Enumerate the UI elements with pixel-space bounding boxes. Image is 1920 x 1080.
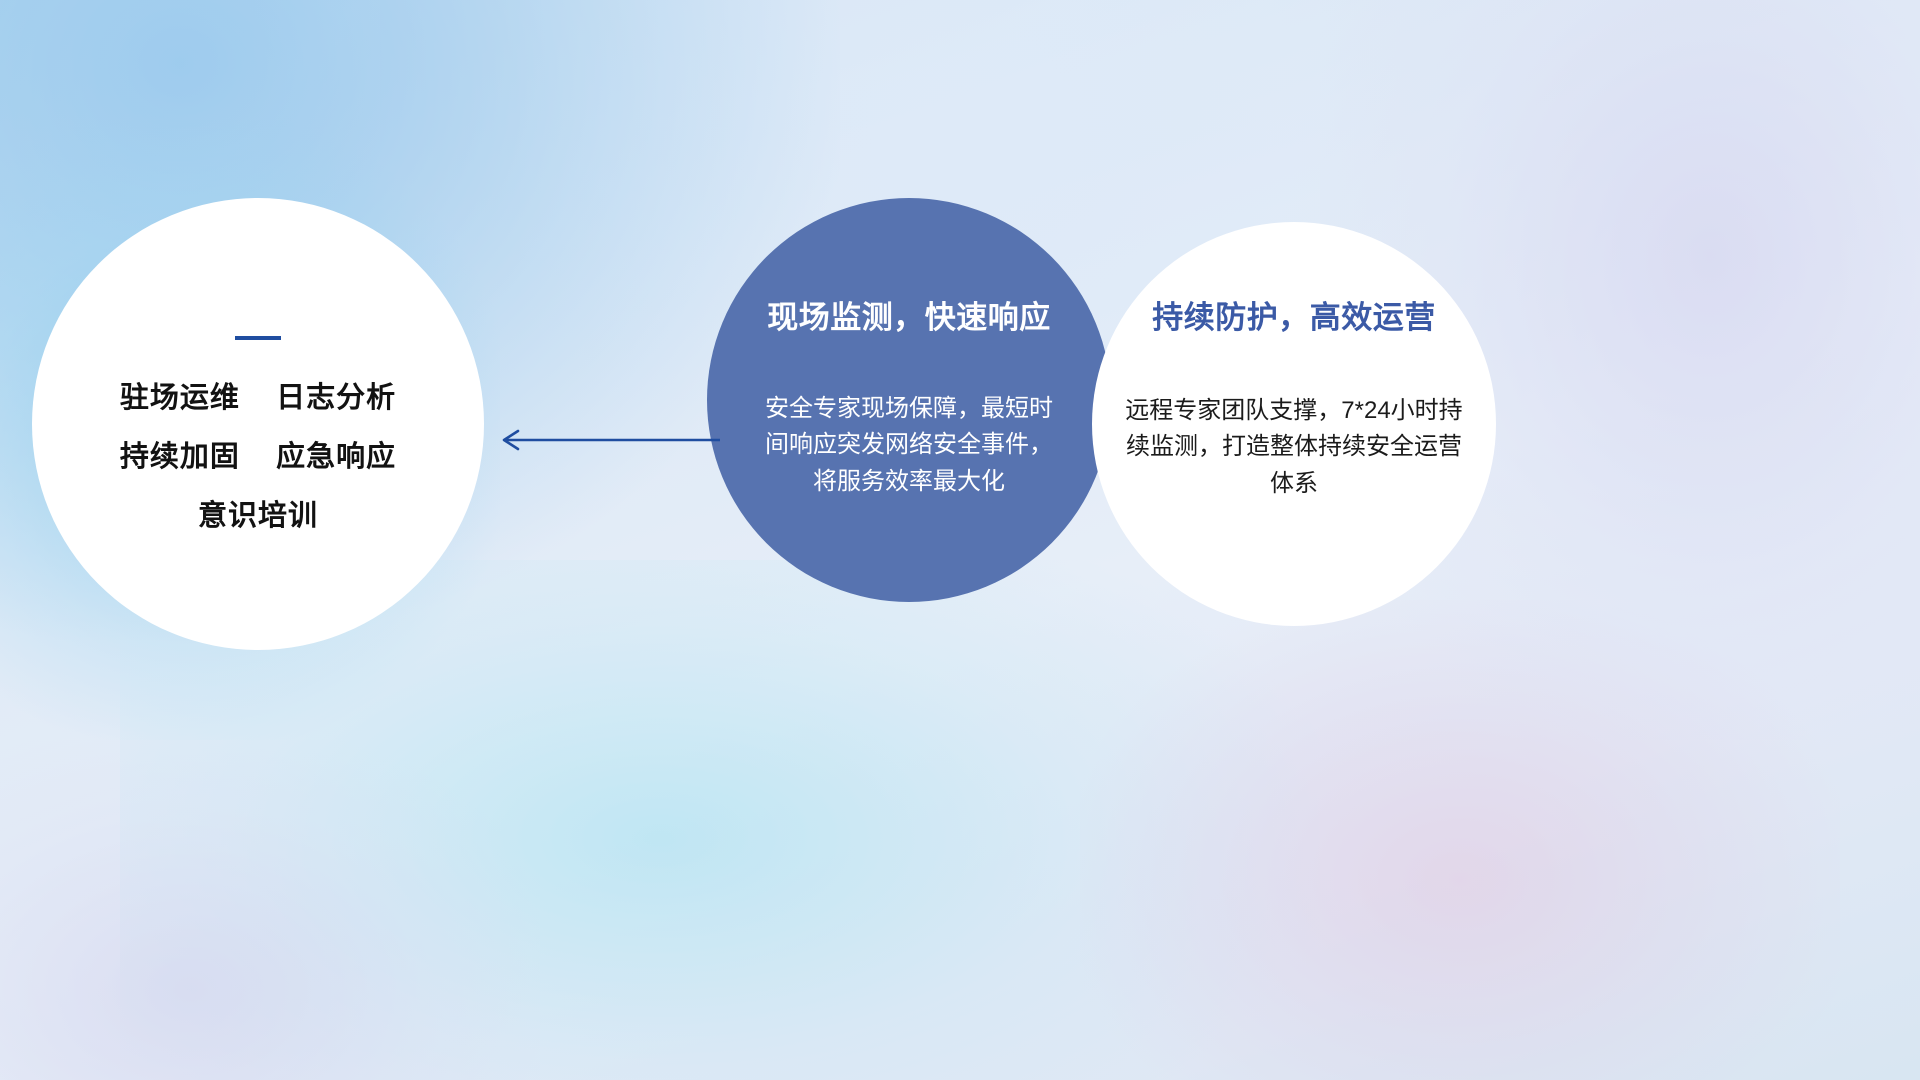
center-circle-content: 现场监测，快速响应 安全专家现场保障，最短时间响应突发网络安全事件，将服务效率最… xyxy=(707,198,1111,602)
right-circle-title: 持续防护，高效运营 xyxy=(1152,292,1436,337)
center-circle-body: 安全专家现场保障，最短时间响应突发网络安全事件，将服务效率最大化 xyxy=(754,391,1064,500)
right-circle-content: 持续防护，高效运营 远程专家团队支撑，7*24小时持续监测，打造整体持续安全运营… xyxy=(1092,222,1496,626)
connector-arrow xyxy=(490,420,720,460)
left-circle-divider xyxy=(235,336,281,340)
center-circle-title: 现场监测，快速响应 xyxy=(767,292,1051,337)
background-glow-bottom-left xyxy=(0,740,540,1080)
left-circle-item-2: 持续加固 应急响应 xyxy=(120,443,396,472)
left-arrow-icon xyxy=(490,420,720,460)
right-circle-body: 远程专家团队支撑，7*24小时持续监测，打造整体持续安全运营体系 xyxy=(1118,393,1470,502)
left-circle-item-3: 意识培训 xyxy=(198,502,318,531)
left-circle-content: 驻场运维 日志分析 持续加固 应急响应 意识培训 xyxy=(32,198,484,650)
left-circle-item-1: 驻场运维 日志分析 xyxy=(120,384,396,413)
